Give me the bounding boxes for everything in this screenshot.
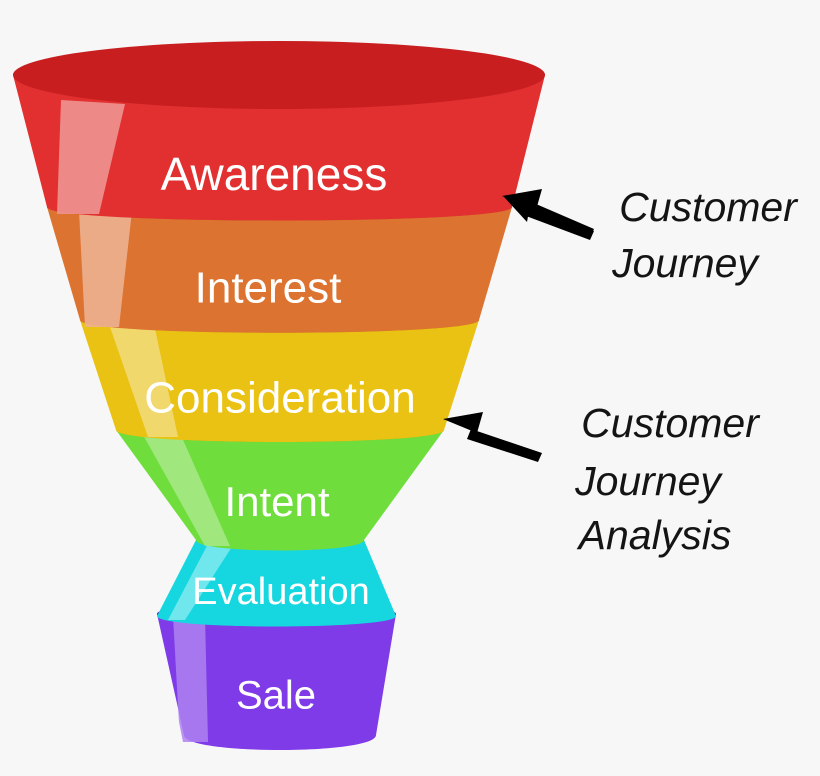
annotation-customer-journey-line-2: Journey bbox=[611, 240, 760, 286]
annotation-cja-line-2: Journey bbox=[574, 458, 723, 504]
annotation-cja-line-1: Customer bbox=[581, 400, 761, 446]
annotation-cja-line-3: Analysis bbox=[576, 512, 732, 558]
funnel-diagram-canvas: Awareness Interest Consideration Intent … bbox=[0, 0, 820, 776]
annotation-customer-journey-line-1: Customer bbox=[619, 184, 799, 230]
arrow-icon-customer-journey bbox=[502, 189, 594, 240]
arrow-icon-customer-journey-analysis bbox=[443, 412, 542, 462]
funnel-annotations: Customer Journey Customer Journey Analys… bbox=[0, 0, 820, 776]
annotation-customer-journey-analysis: Customer Journey Analysis bbox=[574, 400, 761, 558]
annotation-customer-journey: Customer Journey bbox=[611, 184, 799, 286]
